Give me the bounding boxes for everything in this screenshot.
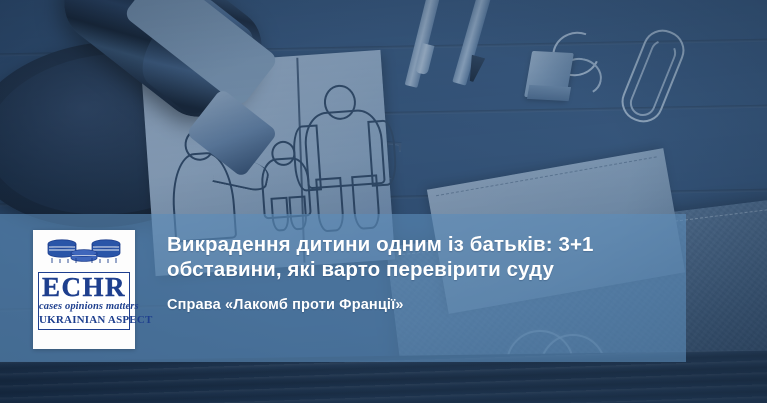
article-hero-banner: PASSPORT — [0, 0, 767, 403]
echr-logo-inner: ECHR cases opinions matters UKRAINIAN AS… — [37, 234, 131, 345]
echr-acronym: ECHR — [39, 274, 129, 301]
subheadline: Справа «Лакомб проти Франції» — [167, 296, 667, 314]
echr-building-icon — [42, 238, 126, 271]
echr-edition: UKRAINIAN ASPECT — [39, 313, 129, 327]
headline: Викрадення дитини одним із батьків: 3+1 … — [167, 232, 667, 282]
echr-logo[interactable]: ECHR cases opinions matters UKRAINIAN AS… — [33, 230, 135, 349]
caption-text-block: Викрадення дитини одним із батьків: 3+1 … — [167, 232, 667, 314]
echr-tagline: cases opinions matters — [39, 301, 129, 313]
echr-logo-textbox: ECHR cases opinions matters UKRAINIAN AS… — [38, 272, 130, 330]
